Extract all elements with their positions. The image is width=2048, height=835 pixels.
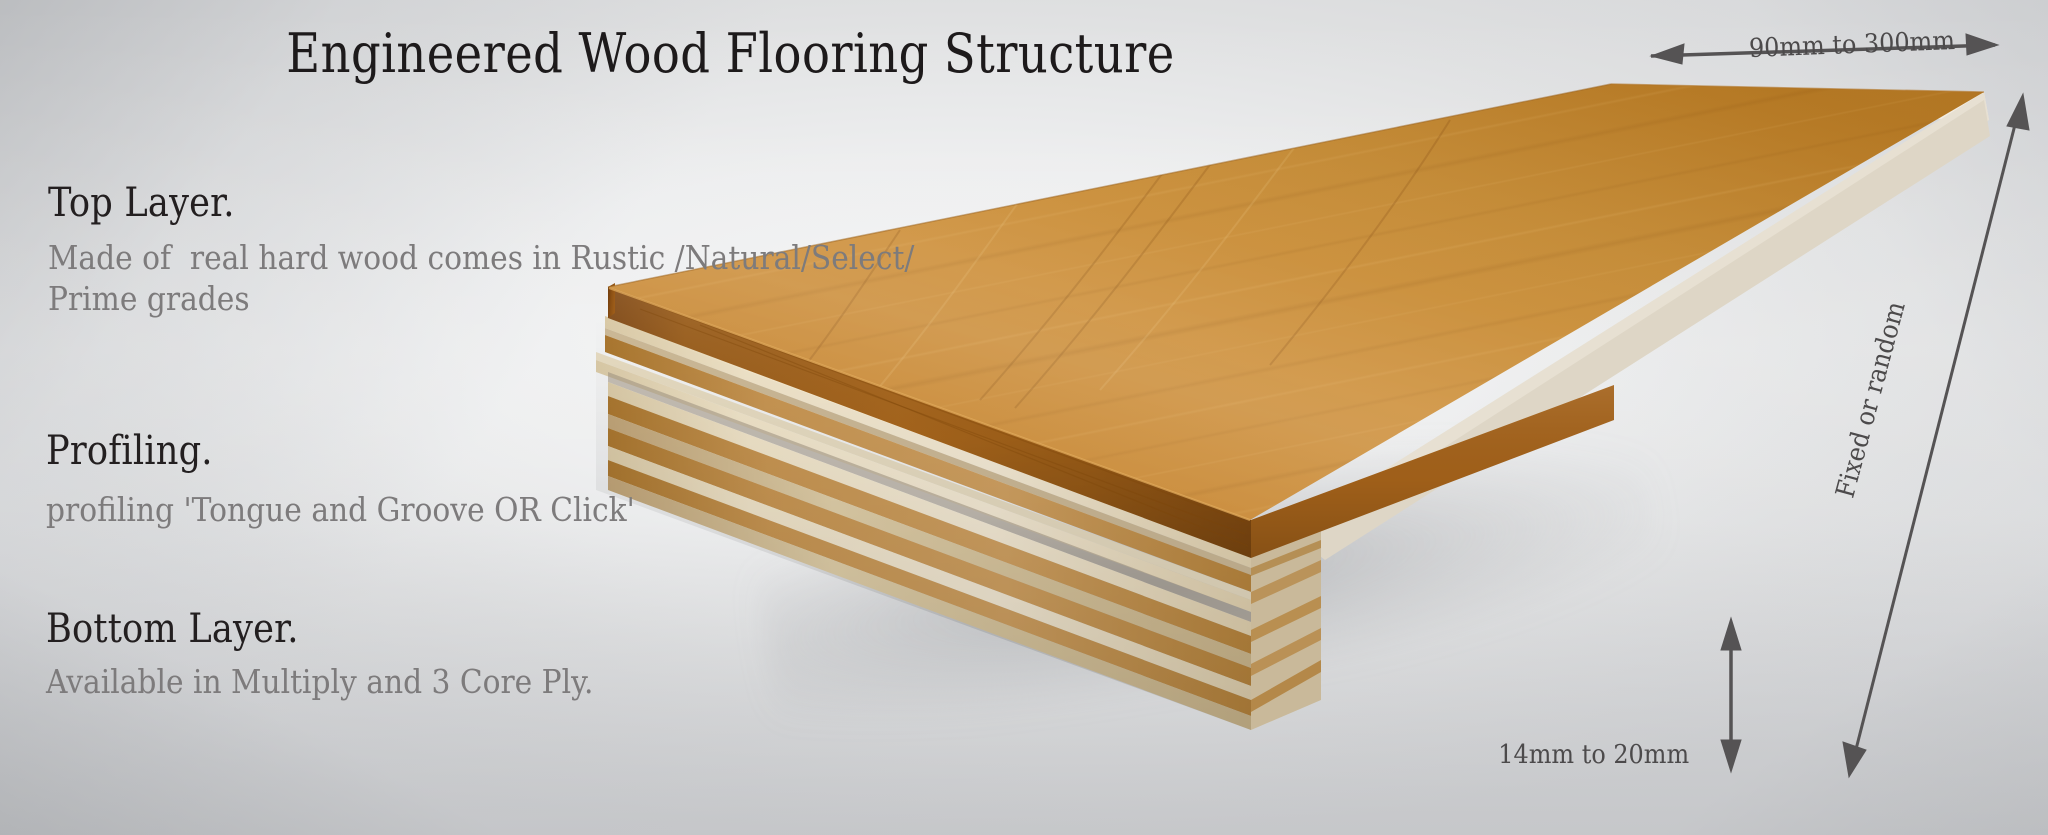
illustration-canvas: Engineered Wood Flooring Structure <box>0 0 2048 835</box>
section-body-top-layer: Made of real hard wood comes in Rustic /… <box>48 238 914 320</box>
section-heading-top-layer: Top Layer. <box>48 180 235 226</box>
section-body-profiling: profiling 'Tongue and Groove OR Click' <box>46 490 635 531</box>
section-body-bottom-layer: Available in Multiply and 3 Core Ply. <box>46 662 593 703</box>
section-heading-profiling: Profiling. <box>46 428 213 474</box>
thickness-dimension-label: 14mm to 20mm <box>1490 740 1697 770</box>
page-title: Engineered Wood Flooring Structure <box>0 22 1460 85</box>
section-heading-bottom-layer: Bottom Layer. <box>46 606 299 652</box>
page-title-text: Engineered Wood Flooring Structure <box>286 22 1174 85</box>
